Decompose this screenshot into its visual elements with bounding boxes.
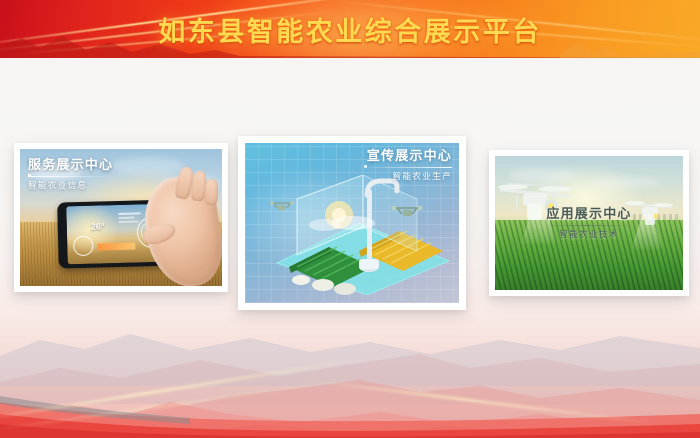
hud-ring-small-icon	[73, 236, 94, 257]
card-application-center-subtitle: 智能农业技术	[543, 229, 635, 239]
card-application-center[interactable]: 应用展示中心 智能农业技术	[489, 150, 689, 296]
drone-right-icon	[391, 203, 423, 220]
card-service-center-subtitle: 智能农业信息	[28, 180, 114, 190]
card-promotion-center[interactable]: 宣传展示中心 智能农业生产	[238, 136, 466, 310]
card-promotion-center-subtitle: 智能农业生产	[364, 171, 452, 181]
header-banner: 如东县智能农业综合展示平台	[0, 0, 700, 58]
card-application-center-title: 应用展示中心	[543, 206, 635, 222]
isometric-farm-illustration	[267, 175, 457, 295]
page-title: 如东县智能农业综合展示平台	[0, 0, 700, 58]
title-divider	[28, 176, 114, 177]
card-service-center-title-block: 服务展示中心 智能农业信息	[28, 157, 114, 190]
card-promotion-center-title-block: 宣传展示中心 智能农业生产	[364, 148, 452, 181]
finger-ring	[205, 179, 219, 205]
card-service-center-title: 服务展示中心	[28, 157, 114, 173]
title-divider	[364, 167, 452, 168]
card-promotion-center-title: 宣传展示中心	[364, 148, 452, 164]
hud-bar-2	[119, 217, 135, 219]
hud-chip-row	[97, 243, 135, 251]
page-root: 如东县智能农业综合展示平台 26°	[0, 0, 700, 438]
hud-bar-1	[118, 212, 140, 214]
phone-temperature: 26°	[91, 221, 105, 231]
card-application-center-title-block: 应用展示中心 智能农业技术	[543, 206, 635, 239]
cloud-2	[112, 157, 184, 175]
hud-bar-3	[119, 220, 139, 222]
title-divider	[543, 225, 635, 226]
drone-left-icon	[269, 199, 295, 213]
card-service-center[interactable]: 26° 服务展示中心 智能农业信息	[14, 143, 228, 292]
cloud-2	[591, 176, 661, 188]
